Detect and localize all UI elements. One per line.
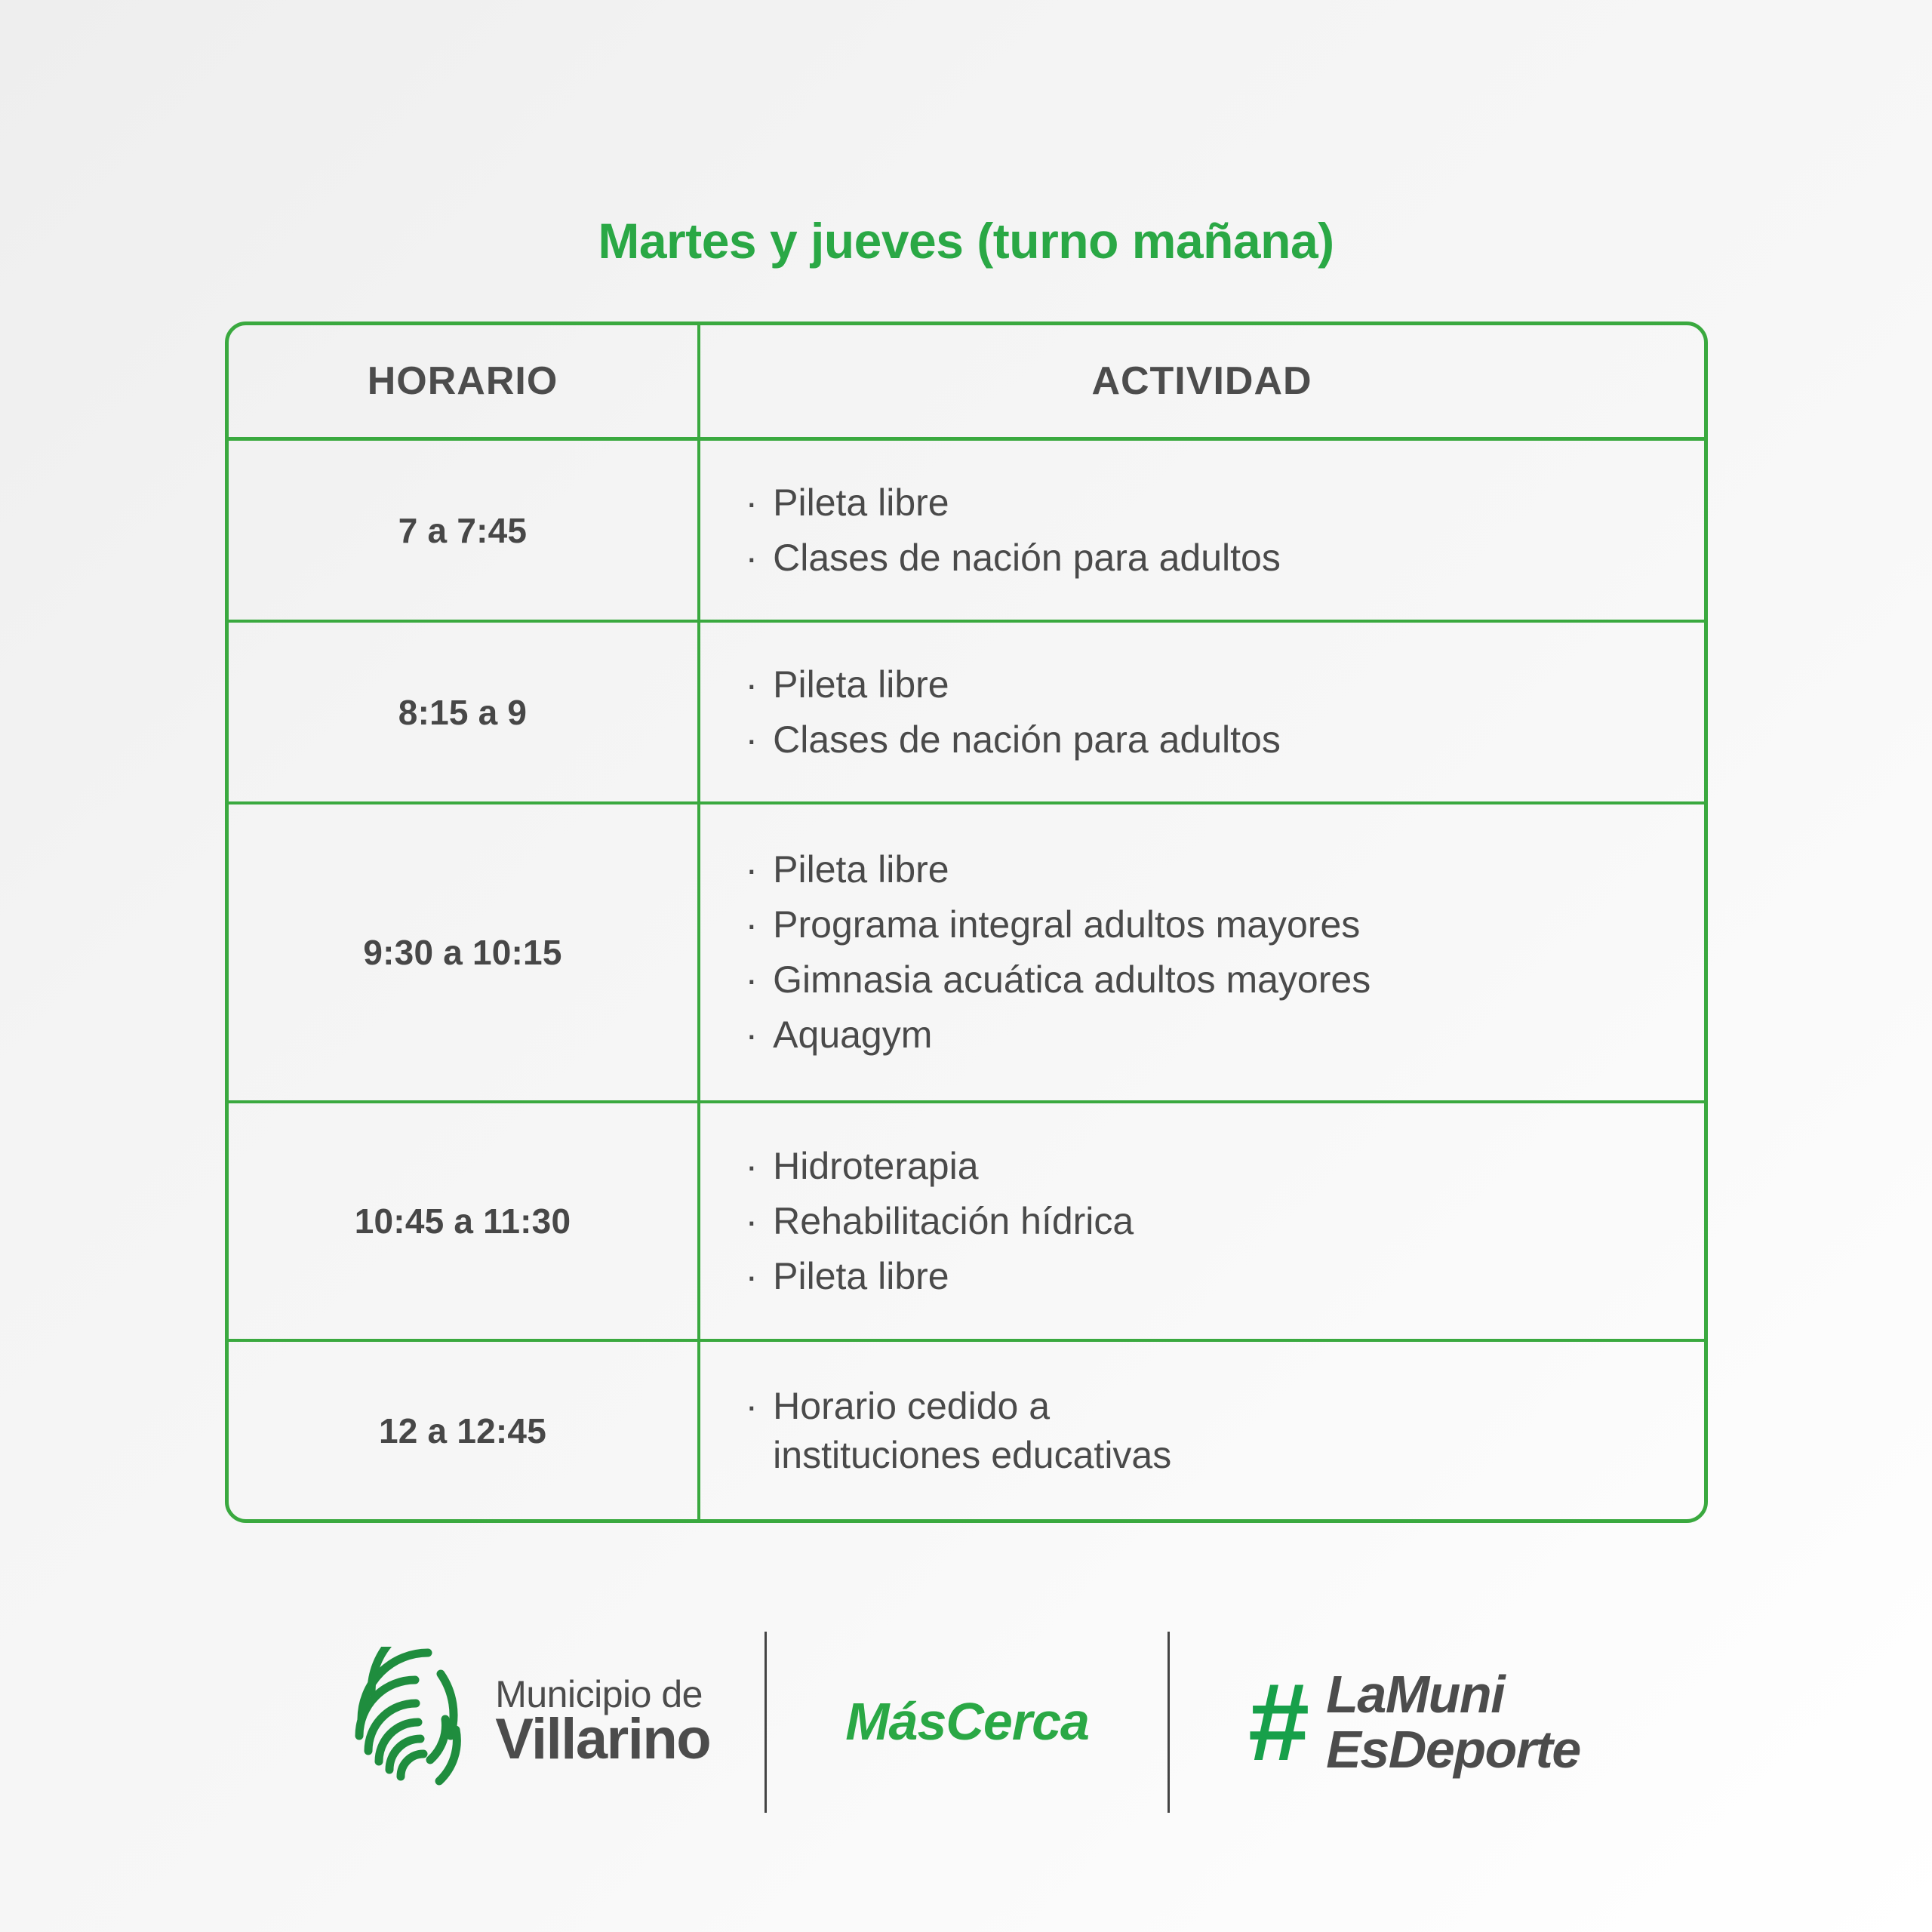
activity-item: · Clases de nación para adultos	[746, 534, 1704, 583]
activity-item: · Clases de nación para adultos	[746, 715, 1704, 764]
activity-item: · Programa integral adultos mayores	[746, 900, 1704, 949]
column-header-actividad-label: ACTIVIDAD	[1091, 358, 1312, 404]
activity-text: Clases de nación para adultos	[773, 534, 1281, 583]
activity-text: Programa integral adultos mayores	[773, 900, 1360, 949]
activity-item: · Pileta libre	[746, 1252, 1704, 1301]
time-cell: 7 a 7:45	[229, 441, 700, 620]
table-row: 9:30 a 10:15 · Pileta libre · Programa i…	[229, 804, 1704, 1103]
bullet-icon: ·	[746, 660, 758, 709]
table-row: 12 a 12:45 · Horario cedido a institucio…	[229, 1342, 1704, 1519]
activity-text: Hidroterapia	[773, 1142, 978, 1191]
time-cell: 12 a 12:45	[229, 1342, 700, 1519]
bullet-icon: ·	[746, 478, 758, 528]
time-cell: 9:30 a 10:15	[229, 804, 700, 1100]
municipality-line2: Villarino	[495, 1712, 710, 1767]
fingerprint-icon	[352, 1647, 465, 1798]
page-title: Martes y jueves (turno mañana)	[598, 216, 1334, 266]
bullet-icon: ·	[746, 1197, 758, 1246]
slogan-line1: Más	[845, 1694, 946, 1750]
bullet-icon: ·	[746, 1142, 758, 1191]
municipality-wordmark: Municipio de Villarino	[495, 1676, 710, 1767]
bullet-icon: ·	[746, 1382, 758, 1431]
hashtag-wordmark: LaMuni EsDeporte	[1326, 1667, 1580, 1778]
activity-text: Pileta libre	[773, 478, 949, 528]
hashtag-lamuni-esdeporte: # LaMuni EsDeporte	[1170, 1667, 1580, 1778]
time-label: 7 a 7:45	[398, 510, 527, 551]
bullet-icon: ·	[746, 845, 758, 894]
municipality-logo: Municipio de Villarino	[352, 1647, 764, 1798]
bullet-icon: ·	[746, 1011, 758, 1060]
activity-text: Rehabilitación hídrica	[773, 1197, 1134, 1246]
activity-item: · Hidroterapia	[746, 1142, 1704, 1191]
bullet-icon: ·	[746, 955, 758, 1004]
activity-text: Gimnasia acuática adultos mayores	[773, 955, 1371, 1004]
activity-text: Pileta libre	[773, 1252, 949, 1301]
footer: Municipio de Villarino Más Cerca # LaMun…	[225, 1632, 1708, 1813]
activity-text: Aquagym	[773, 1011, 932, 1060]
poster-root: Martes y jueves (turno mañana) HORARIO A…	[0, 0, 1932, 1932]
hashtag-line2: EsDeporte	[1326, 1722, 1580, 1778]
slogan-line2: Cerca	[946, 1694, 1089, 1750]
activity-item: · Pileta libre	[746, 478, 1704, 528]
time-label: 8:15 a 9	[398, 692, 527, 733]
activity-item: · Horario cedido a instituciones educati…	[746, 1382, 1704, 1480]
activity-cell: · Pileta libre · Programa integral adult…	[700, 804, 1704, 1100]
table-row: 8:15 a 9 · Pileta libre · Clases de naci…	[229, 623, 1704, 804]
time-cell: 10:45 a 11:30	[229, 1103, 700, 1339]
column-header-horario-label: HORARIO	[368, 358, 558, 404]
time-label: 10:45 a 11:30	[355, 1201, 571, 1241]
activity-text: Pileta libre	[773, 660, 949, 709]
bullet-icon: ·	[746, 1252, 758, 1301]
activity-item: · Gimnasia acuática adultos mayores	[746, 955, 1704, 1004]
activity-item: · Pileta libre	[746, 660, 1704, 709]
hashtag-line1: LaMuni	[1326, 1667, 1580, 1723]
schedule-table: HORARIO ACTIVIDAD 7 a 7:45 · Pileta libr…	[225, 321, 1708, 1523]
time-label: 9:30 a 10:15	[363, 932, 561, 973]
bullet-icon: ·	[746, 715, 758, 764]
time-label: 12 a 12:45	[379, 1411, 546, 1451]
column-header-horario: HORARIO	[229, 325, 700, 437]
table-header-row: HORARIO ACTIVIDAD	[229, 325, 1704, 441]
activity-item: · Aquagym	[746, 1011, 1704, 1060]
activity-cell: · Pileta libre · Clases de nación para a…	[700, 623, 1704, 801]
activity-cell: · Hidroterapia · Rehabilitación hídrica …	[700, 1103, 1704, 1339]
activity-cell: · Pileta libre · Clases de nación para a…	[700, 441, 1704, 620]
activity-text: Clases de nación para adultos	[773, 715, 1281, 764]
activity-text: Horario cedido a instituciones educativa…	[773, 1382, 1171, 1480]
activity-cell: · Horario cedido a instituciones educati…	[700, 1342, 1704, 1519]
column-header-actividad: ACTIVIDAD	[700, 325, 1704, 437]
slogan-mas-cerca: Más Cerca	[767, 1694, 1168, 1750]
time-cell: 8:15 a 9	[229, 623, 700, 801]
activity-text: Pileta libre	[773, 845, 949, 894]
bullet-icon: ·	[746, 534, 758, 583]
hash-icon: #	[1248, 1672, 1306, 1771]
activity-item: · Pileta libre	[746, 845, 1704, 894]
bullet-icon: ·	[746, 900, 758, 949]
table-row: 10:45 a 11:30 · Hidroterapia · Rehabilit…	[229, 1103, 1704, 1342]
table-row: 7 a 7:45 · Pileta libre · Clases de naci…	[229, 441, 1704, 623]
activity-item: · Rehabilitación hídrica	[746, 1197, 1704, 1246]
